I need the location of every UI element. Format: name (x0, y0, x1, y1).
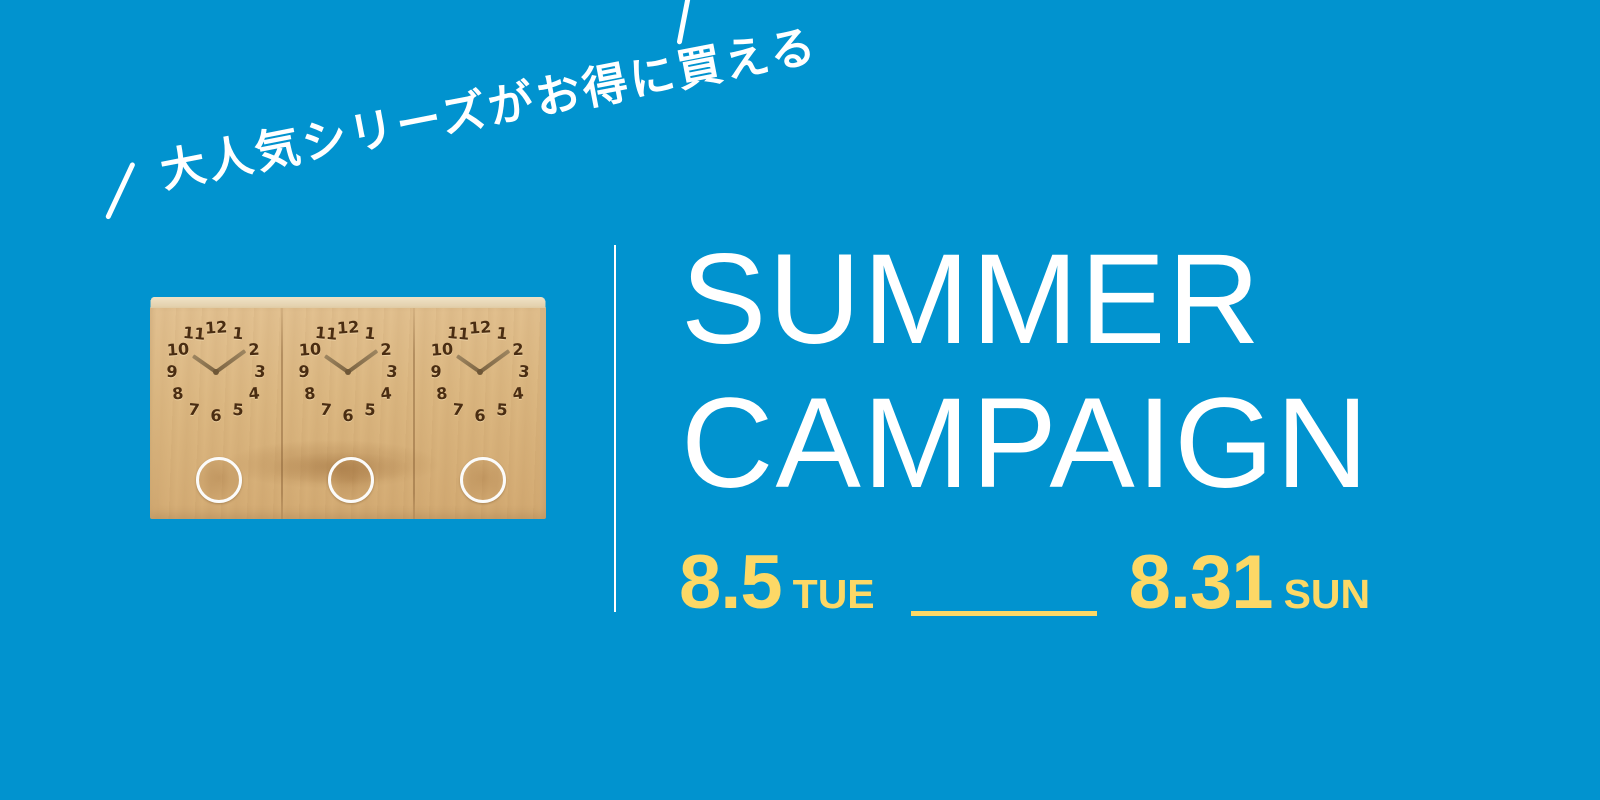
clock-ring (328, 457, 374, 503)
clock-numeral: 12 (204, 317, 227, 338)
headline-block: SUMMER CAMPAIGN (681, 228, 1370, 516)
product-image-wooden-clock-board: 121234567891011 121234567891011 12123456… (150, 297, 546, 519)
tagline-text: 大人気シリーズがお得に買える (154, 9, 823, 200)
panel-seam (281, 308, 283, 519)
clock-numeral: 12 (336, 317, 359, 338)
clock-numeral: 9 (292, 361, 315, 382)
start-day-of-week: TUE (793, 554, 875, 634)
clock-numeral: 6 (337, 406, 360, 427)
summer-campaign-banner: 大人気シリーズがお得に買える 121234567891011 121234567… (0, 0, 1600, 800)
clock-numeral: 12 (468, 317, 491, 338)
clock-numeral: 3 (512, 361, 536, 383)
clock-numeral: 2 (507, 339, 530, 360)
board-face: 121234567891011 121234567891011 12123456… (150, 308, 546, 519)
tagline-group: 大人気シリーズがお得に買える (95, 0, 752, 252)
date-range-dash (911, 611, 1097, 616)
clock-numeral: 11 (314, 323, 338, 345)
clock-numeral: 11 (182, 323, 206, 345)
vertical-divider (614, 245, 616, 612)
clock-panel: 121234567891011 (414, 308, 546, 519)
clock-numeral: 9 (424, 361, 447, 382)
slash-left-decoration (105, 162, 136, 220)
clock-ring (196, 457, 242, 503)
clock-numeral: 8 (430, 383, 454, 405)
clock-numeral: 2 (243, 339, 266, 360)
clock-panel: 121234567891011 (150, 308, 282, 519)
clock-center-hub (477, 369, 483, 375)
clock-face: 121234567891011 (428, 320, 532, 424)
campaign-date-range: 8.5 TUE 8.31 SUN (679, 543, 1370, 634)
clock-face: 121234567891011 (296, 320, 400, 424)
clock-numeral: 5 (358, 399, 381, 420)
clock-numeral: 8 (166, 383, 190, 405)
end-date: 8.31 (1129, 543, 1273, 623)
clock-numeral: 6 (469, 406, 492, 427)
headline-line-campaign: CAMPAIGN (681, 372, 1370, 516)
clock-ring (460, 457, 506, 503)
clock-center-hub (213, 369, 219, 375)
start-date: 8.5 (679, 543, 782, 623)
headline-line-summer: SUMMER (681, 228, 1370, 372)
clock-numeral: 8 (298, 383, 322, 405)
clock-numeral: 2 (375, 339, 398, 360)
clock-numeral: 5 (226, 399, 249, 420)
clock-panel: 121234567891011 (282, 308, 414, 519)
clock-numeral: 3 (248, 361, 272, 383)
clock-numeral: 5 (490, 399, 513, 420)
clock-numeral: 9 (160, 361, 183, 382)
panel-seam (413, 308, 415, 519)
clock-numeral: 6 (205, 406, 228, 427)
clock-numeral: 3 (380, 361, 404, 383)
end-day-of-week: SUN (1284, 554, 1371, 634)
clock-numeral: 11 (446, 323, 470, 345)
clock-face: 121234567891011 (164, 320, 268, 424)
clock-center-hub (345, 369, 351, 375)
